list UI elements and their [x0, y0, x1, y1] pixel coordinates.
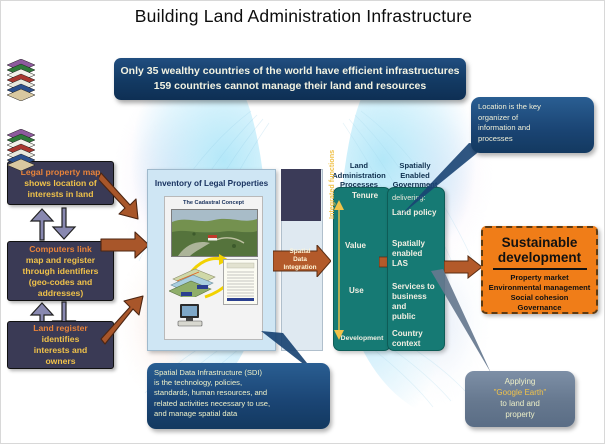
sdi-callout-line-3: standards, human resources, and — [154, 388, 323, 398]
land-register-document — [223, 259, 258, 305]
land-register-line-1: Land register — [33, 323, 87, 334]
sustainable-title-1: Sustainable — [483, 235, 596, 250]
computer-icon — [177, 303, 203, 329]
callout-sdi-definition[interactable]: Spatial Data Infrastructure (SDI) is the… — [147, 363, 330, 429]
map-layers-stack — [169, 263, 217, 297]
sustainable-divider — [493, 268, 587, 270]
location-callout-line-4: processes — [478, 134, 587, 145]
seg-item-spatially-enabled-las: Spatially enabled LAS — [392, 239, 442, 269]
computers-link-line-4: (geo-codes and — [23, 277, 99, 288]
cadastral-concept-figure: The Cadastral Concept — [164, 196, 263, 340]
banner-line-1: Only 35 wealthy countries of the world h… — [121, 64, 460, 79]
diagram-canvas: Building Land Administration Infrastruct… — [0, 0, 605, 444]
land-admin-heading: Land Administration Processes — [327, 161, 391, 190]
sdi-arrow-line-2: Data — [276, 256, 324, 264]
computers-link-line-1: Computers link — [23, 244, 99, 255]
location-callout-line-2: organizer of — [478, 113, 587, 124]
sdi-subtitle-1: National — [1, 15, 41, 23]
left-box-computers-link[interactable]: Computers link map and register through … — [7, 241, 114, 301]
seg-item-2-line-3: LAS — [392, 259, 442, 269]
location-callout-line-1: Location is the key — [478, 102, 587, 113]
land-register-line-2: identifies — [33, 334, 87, 345]
sdi-arrow-line-3: Integration — [276, 264, 324, 272]
land-admin-item-value: Value — [345, 241, 389, 251]
land-admin-head-1: Land — [327, 161, 391, 171]
banner-line-2: 159 countries cannot manage their land a… — [154, 79, 427, 94]
sustainable-point-4: Governance — [483, 303, 596, 313]
callout-location-key[interactable]: Location is the key organizer of informa… — [471, 97, 594, 153]
seg-item-2-line-2: enabled — [392, 249, 442, 259]
legal-property-map-line-2: shows location of — [21, 178, 101, 189]
integrated-functions-axis-arrow — [332, 199, 346, 341]
sustainable-point-1: Property market — [483, 273, 596, 283]
cadastral-concept-title: The Cadastral Concept — [165, 200, 262, 206]
sdi-layer-stack-bottom — [5, 129, 37, 171]
callout-google-earth[interactable]: Applying "Google Earth" to land and prop… — [465, 371, 575, 427]
inventory-title: Inventory of Legal Properties — [148, 179, 275, 188]
land-register-line-3: interests and — [33, 345, 87, 356]
sdi-subtitle-3: Agencies — [1, 31, 41, 39]
sdi-header-text: SDI National Mapping Agencies — [1, 6, 41, 39]
google-earth-line-3: to land and — [472, 398, 568, 409]
land-admin-item-use: Use — [349, 286, 389, 296]
sustainable-point-3: Social cohesion — [483, 293, 596, 303]
integrated-functions-label: Integrated functions — [327, 119, 336, 219]
computers-link-line-2: map and register — [23, 255, 99, 266]
sdi-header-block — [281, 169, 321, 221]
computers-link-line-5: addresses) — [23, 288, 99, 299]
landscape-photo — [171, 209, 258, 257]
up-down-arrows-1 — [27, 207, 83, 241]
computers-link-line-3: through identifiers — [23, 266, 99, 277]
legal-property-map-line-3: interests in land — [21, 189, 101, 200]
land-admin-item-tenure: Tenure — [341, 191, 389, 201]
google-earth-line-4: property — [472, 409, 568, 420]
sdi-callout-line-4: related activities necessary to use, — [154, 399, 323, 409]
sdi-callout-line-1: Spatial Data Infrastructure (SDI) — [154, 368, 323, 378]
statistics-banner: Only 35 wealthy countries of the world h… — [114, 58, 466, 100]
google-earth-line-1: Applying — [472, 376, 568, 387]
location-callout-tail — [399, 141, 489, 221]
sdi-arrow-line-1: Spatial — [276, 248, 324, 256]
page-title: Building Land Administration Infrastruct… — [1, 6, 605, 27]
spatial-data-integration-label: Spatial Data Integration — [276, 248, 324, 272]
sdi-acronym: SDI — [1, 6, 41, 15]
seg-item-2-line-1: Spatially — [392, 239, 442, 249]
google-earth-line-2: "Google Earth" — [472, 387, 568, 398]
sustainable-title-2: development — [483, 250, 596, 265]
sdi-callout-line-2: is the technology, policies, — [154, 378, 323, 388]
sdi-callout-line-5: and manage spatial data — [154, 409, 323, 419]
left-box-land-register[interactable]: Land register identifies interests and o… — [7, 321, 114, 369]
sdi-subtitle-2: Mapping — [1, 23, 41, 31]
sustainable-point-2: Environmental management — [483, 283, 596, 293]
google-earth-callout-tail — [429, 269, 499, 379]
land-register-line-4: owners — [33, 356, 87, 367]
location-callout-line-3: information and — [478, 123, 587, 134]
land-admin-head-2: Administration — [327, 171, 391, 181]
inventory-panel: Inventory of Legal Properties The Cadast… — [147, 169, 276, 351]
land-admin-item-development: Development — [334, 334, 390, 344]
sdi-layer-stack-top — [5, 59, 37, 101]
